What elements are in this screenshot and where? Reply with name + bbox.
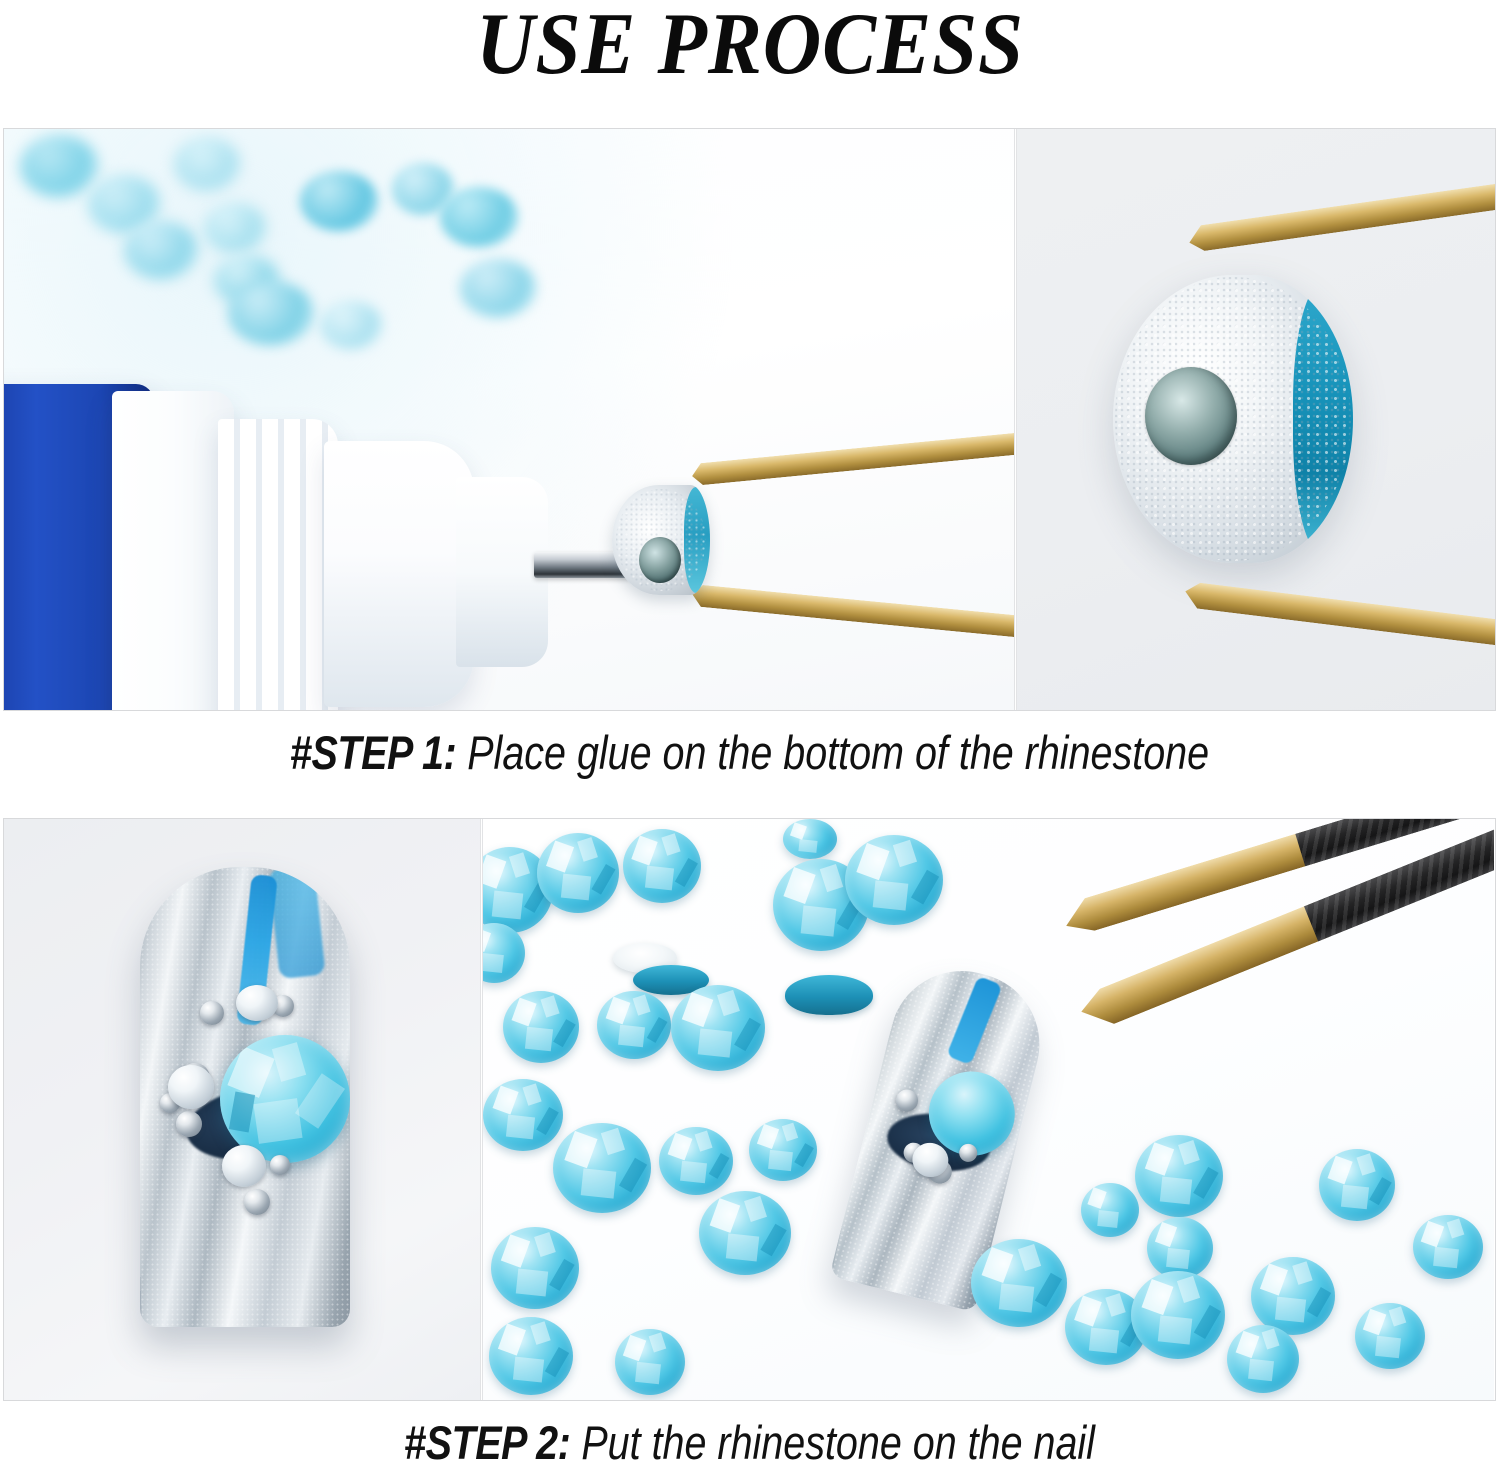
loose-rhinestone (537, 833, 619, 913)
loose-rhinestone (1131, 1271, 1225, 1359)
tweezer-lower-arm-icon (691, 584, 1014, 638)
bokeh-rhinestone-icon (440, 187, 518, 247)
loose-rhinestone (489, 1317, 573, 1395)
glue-applied-to-rhinestone-photo (4, 129, 1014, 710)
loose-rhinestone (1319, 1149, 1395, 1221)
step-1-block: #STEP 1: Place glue on the bottom of the… (3, 128, 1496, 780)
step-2-photo-row (3, 818, 1496, 1401)
loose-rhinestone-side-view (785, 975, 873, 1015)
loose-rhinestone (483, 1079, 563, 1151)
step-2-caption-rest: Put the rhinestone on the nail (570, 1416, 1095, 1469)
nail-center-rhinestone (220, 1035, 350, 1163)
gem-facet (272, 1042, 306, 1082)
loose-rhinestone (783, 819, 837, 859)
bokeh-rhinestone-icon (204, 203, 266, 253)
loose-rhinestone (615, 1329, 685, 1395)
loose-rhinestone (671, 985, 765, 1071)
gem-facet (295, 1073, 345, 1128)
glue-tube-taper (324, 441, 474, 707)
step-2-block: #STEP 2: Put the rhinestone on the nail (3, 818, 1496, 1470)
tweezer-lower-arm-icon (1184, 581, 1495, 653)
bokeh-rhinestone-icon (320, 301, 382, 349)
clear-rhinestone-bead (222, 1145, 266, 1187)
finished-nail-photo (4, 819, 480, 1400)
bokeh-rhinestone-icon (228, 281, 314, 345)
loose-rhinestone (553, 1123, 651, 1213)
silver-bead (244, 1189, 270, 1215)
gem-facet (229, 1092, 255, 1133)
step-2-caption: #STEP 2: Put the rhinestone on the nail (122, 1415, 1376, 1470)
loose-rhinestone (749, 1119, 817, 1181)
page-title: USE PROCESS (60, 0, 1440, 95)
bokeh-rhinestone-icon (20, 135, 98, 197)
glue-tube-white-body (112, 391, 234, 710)
step-1-photo-row (3, 128, 1496, 711)
clear-rhinestone-bead (168, 1065, 214, 1109)
step-1-caption-rest: Place glue on the bottom of the rhinesto… (456, 726, 1209, 779)
placing-rhinestone-photo (483, 819, 1494, 1400)
glue-drop (639, 537, 681, 583)
silver-bead (270, 1155, 290, 1175)
loose-rhinestone (1135, 1135, 1223, 1217)
bokeh-rhinestone-icon (460, 259, 536, 317)
loose-rhinestone (597, 991, 671, 1059)
tweezer-upper-arm-icon (691, 431, 1014, 485)
glue-tube-ribbed-neck (218, 419, 338, 710)
loose-rhinestone (491, 1227, 579, 1309)
gem-facet (253, 1098, 302, 1144)
silver-bead (200, 1001, 224, 1025)
loose-rhinestone (623, 829, 701, 903)
loose-rhinestone (1355, 1303, 1425, 1369)
tweezer-upper-arm-icon (1188, 174, 1495, 253)
loose-rhinestone (845, 835, 943, 925)
silver-bead (176, 1111, 202, 1137)
step-1-caption-lead: #STEP 1: (290, 726, 456, 779)
step-2-caption-lead: #STEP 2: (404, 1416, 570, 1469)
step-1-caption: #STEP 1: Place glue on the bottom of the… (122, 725, 1376, 780)
glue-drop-macro (1145, 367, 1237, 465)
bokeh-rhinestone-icon (300, 171, 378, 231)
loose-rhinestone (971, 1239, 1067, 1327)
loose-rhinestone (1227, 1325, 1299, 1393)
loose-rhinestone (1413, 1215, 1483, 1279)
bokeh-rhinestone-icon (174, 137, 240, 191)
loose-rhinestone (699, 1191, 791, 1275)
bokeh-rhinestone-icon (124, 221, 198, 279)
loose-rhinestone (1147, 1217, 1213, 1279)
rhinestone-macro-photo (1017, 129, 1495, 710)
loose-rhinestone (1251, 1257, 1335, 1335)
loose-rhinestone (503, 991, 579, 1063)
loose-rhinestone (659, 1127, 733, 1195)
clear-rhinestone-bead (236, 985, 278, 1021)
use-process-infographic: USE PROCESS (0, 0, 1500, 1466)
chrome-coffin-nail (140, 867, 350, 1327)
loose-rhinestone (1081, 1183, 1139, 1237)
